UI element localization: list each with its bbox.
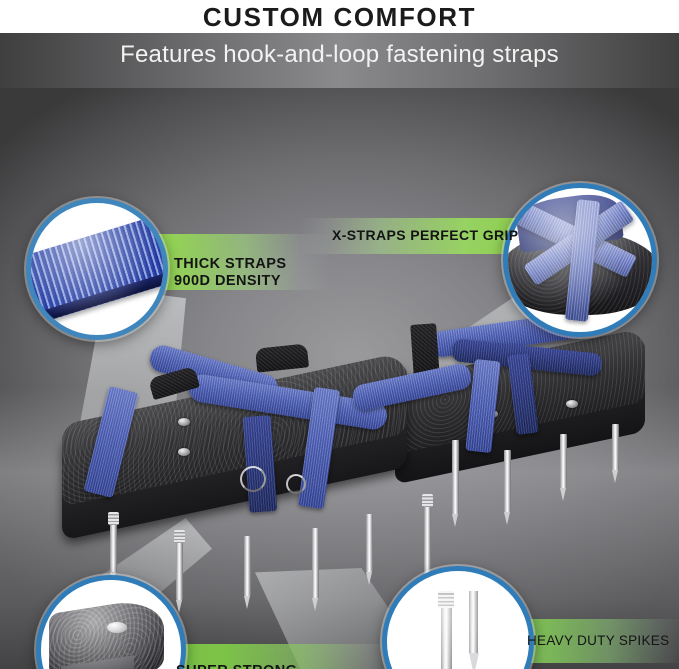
callout-line-2: 900D DENSITY (174, 273, 281, 289)
d-ring-small (286, 474, 306, 494)
callout-label-x-straps: X-STRAPS PERFECT GRIP (332, 227, 519, 244)
rivet (178, 418, 190, 426)
magnifier-durable-base (36, 575, 186, 669)
callout-line-1: X-STRAPS PERFECT GRIP (332, 227, 519, 243)
spike (452, 440, 459, 514)
spike-collar (422, 494, 433, 507)
callout-label-thick-straps: THICK STRAPS900D DENSITY (174, 256, 287, 290)
spike (244, 536, 251, 596)
spike (366, 514, 373, 572)
magnifier-glare (41, 580, 181, 669)
product-photo-stage: THICK STRAPS900D DENSITY X-STRAPS PERFEC… (0, 88, 679, 669)
front-velcro-tab-2 (255, 343, 309, 372)
spike (312, 528, 319, 598)
spike (504, 450, 511, 512)
d-ring (240, 466, 266, 492)
magnifier-x-straps (503, 183, 657, 337)
spike (110, 520, 117, 572)
callout-line-1: HEAVY DUTY SPIKES (527, 633, 669, 648)
spike (560, 434, 567, 488)
magnifier-glare (387, 571, 529, 669)
page-subtitle: Features hook-and-loop fastening straps (0, 41, 679, 69)
callout-label-durable-base: SUPER STRONGDURABLE BASE (176, 663, 297, 669)
magnifier-thick-straps (26, 198, 168, 340)
rivet (566, 400, 578, 408)
spike (612, 424, 619, 470)
page-title: CUSTOM COMFORT (0, 2, 679, 33)
infographic-page: CUSTOM COMFORT Features hook-and-loop fa… (0, 0, 679, 669)
magnifier-glare (31, 203, 163, 335)
rivet (178, 448, 190, 456)
magnifier-glare (508, 188, 652, 332)
callout-label-heavy-duty-spikes: HEAVY DUTY SPIKES (527, 633, 669, 649)
spike-collar (174, 530, 185, 543)
spike-collar (108, 512, 119, 525)
callout-line-1: SUPER STRONG (176, 663, 297, 669)
magnifier-heavy-duty-spikes (382, 566, 534, 669)
callout-line-1: THICK STRAPS (174, 256, 287, 272)
